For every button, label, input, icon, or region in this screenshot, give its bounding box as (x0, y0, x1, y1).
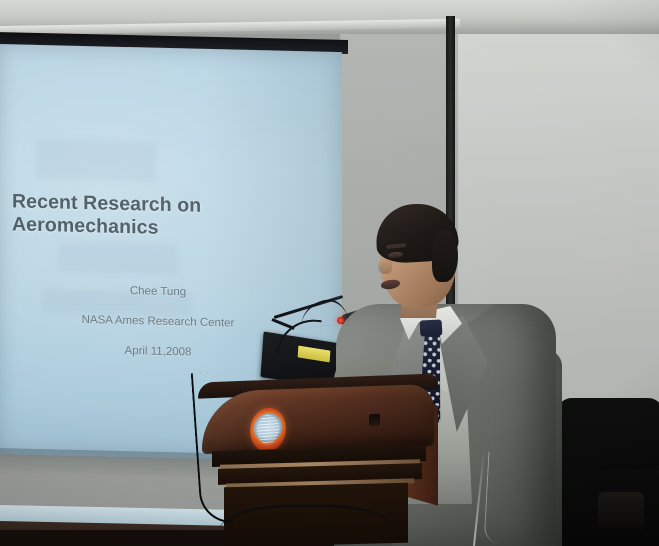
presentation-photo: Recent Research on Aeromechanics Chee Tu… (0, 0, 659, 546)
slide-title: Recent Research on Aeromechanics (12, 190, 332, 244)
podium-front-panel (202, 384, 434, 454)
slide-date: April 11,2008 (38, 343, 278, 361)
tie-knot (420, 319, 443, 336)
foreground-equipment-detail (598, 492, 644, 530)
slide-presenter-name: Chee Tung (38, 283, 278, 301)
presenter-hair-side (432, 230, 458, 282)
presenter-nose (378, 258, 392, 274)
slide-affiliation: NASA Ames Research Center (38, 313, 278, 331)
podium-control-panel (369, 414, 380, 427)
podium-seal-icon (250, 406, 286, 453)
